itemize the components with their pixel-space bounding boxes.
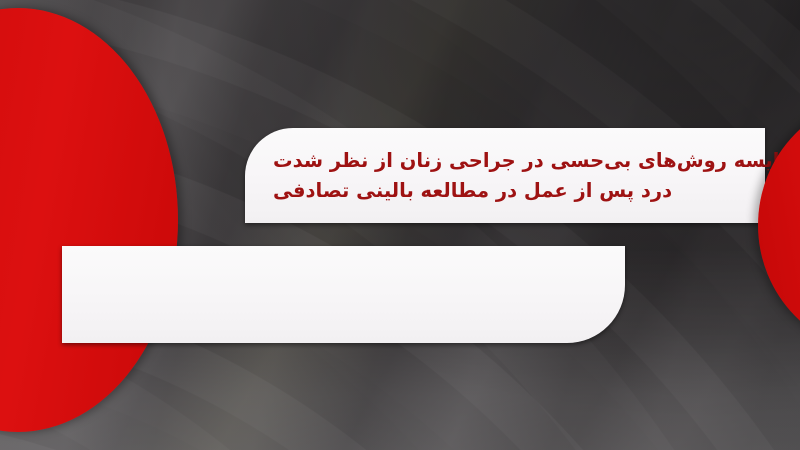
slide-title-line-1: مقایسه روش‌های بی‌حسی در جراحی زنان از ن… — [273, 146, 800, 176]
slide-title: مقایسه روش‌های بی‌حسی در جراحی زنان از ن… — [245, 128, 765, 223]
slide-subtitle — [62, 246, 625, 343]
slide-title-line-2: درد پس از عمل در مطالعه بالینی تصادفی — [273, 176, 672, 206]
presentation-slide: مقایسه روش‌های بی‌حسی در جراحی زنان از ن… — [0, 0, 800, 450]
